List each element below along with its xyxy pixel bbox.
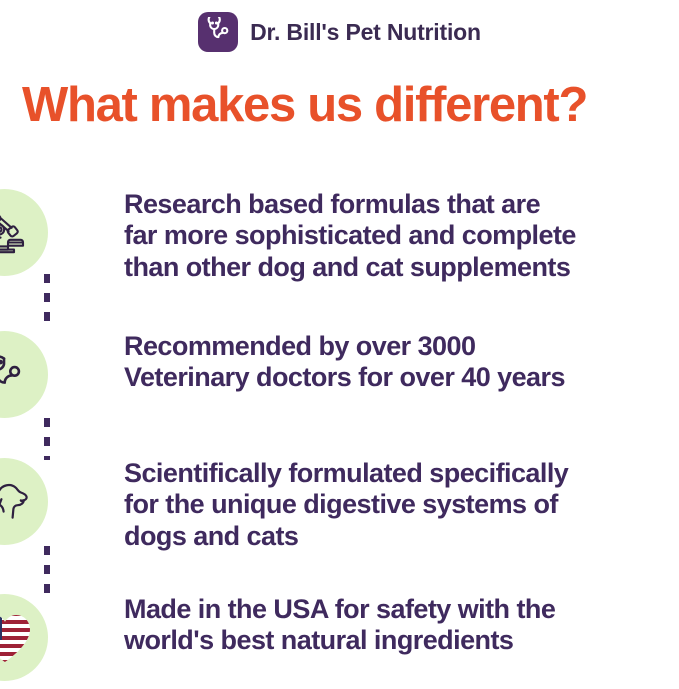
dashed-connector: [44, 546, 50, 594]
page-title: What makes us different?: [22, 80, 662, 131]
brand-header: Dr. Bill's Pet Nutrition: [0, 8, 679, 56]
pet-stethoscope-logo-icon: [198, 12, 238, 52]
feature-text: Scientifically formulated specifically f…: [124, 456, 568, 552]
brand-name: Dr. Bill's Pet Nutrition: [250, 21, 481, 44]
feature-icon-wrap: [0, 329, 94, 421]
feature-list: Research based formulas that are far mor…: [0, 180, 679, 689]
microscope-icon: [0, 189, 48, 276]
feature-text: Recommended by over 3000 Veterinary doct…: [124, 329, 565, 394]
feature-item: Made in the USA for safety with the worl…: [0, 592, 679, 684]
feature-icon-wrap: [0, 456, 94, 548]
feature-item: Scientifically formulated specifically f…: [0, 456, 679, 552]
feature-item: Recommended by over 3000 Veterinary doct…: [0, 329, 679, 421]
dashed-connector: [44, 418, 50, 460]
usa-flag-heart-icon: [0, 594, 48, 681]
feature-text: Research based formulas that are far mor…: [124, 187, 576, 283]
feature-icon-wrap: [0, 187, 94, 279]
stethoscope-pet-face-icon: [0, 331, 48, 418]
feature-text: Made in the USA for safety with the worl…: [124, 592, 555, 657]
dog-and-cat-icon: [0, 458, 48, 545]
feature-icon-wrap: [0, 592, 94, 684]
feature-item: Research based formulas that are far mor…: [0, 187, 679, 283]
